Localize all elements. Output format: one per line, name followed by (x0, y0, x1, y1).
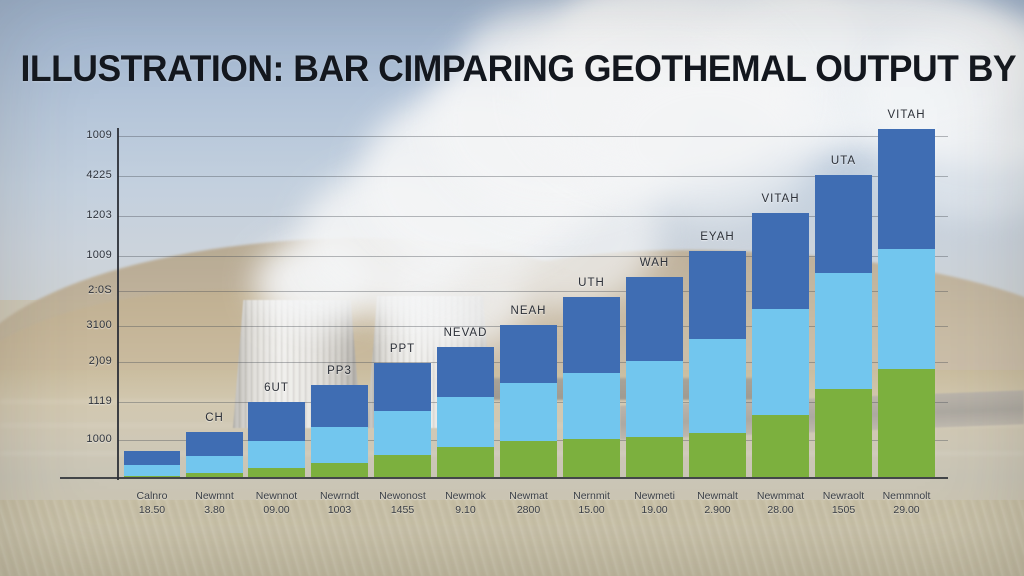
bar-segment-top (878, 129, 935, 249)
bar-9 (626, 277, 683, 477)
bar-segment-mid (186, 456, 243, 473)
bar-segment-top (437, 347, 494, 397)
bar-segment-mid (689, 339, 746, 433)
bar-segment-bot (563, 439, 620, 477)
bar-segment-top (689, 251, 746, 339)
bar-segment-mid (626, 361, 683, 437)
bar-3 (248, 402, 305, 477)
bar-segment-mid (500, 383, 557, 441)
bar-segment-top (374, 363, 431, 411)
x-axis-tick-labels: Calnro18.50Newmnt3.80Newnnot09.00Newrndt… (0, 489, 1024, 533)
bar-segment-bot (311, 463, 368, 477)
bar-segment-bot (626, 437, 683, 477)
bar-segment-mid (311, 427, 368, 463)
bar-13 (878, 129, 935, 477)
bar-segment-top (626, 277, 683, 361)
bar-segment-top (752, 213, 809, 309)
bar-segment-mid (563, 373, 620, 439)
bar-12 (815, 175, 872, 477)
bar-segment-bot (878, 369, 935, 477)
bar-6 (437, 347, 494, 477)
bar-4 (311, 385, 368, 477)
bar-segment-top (500, 325, 557, 383)
x-axis-tick-label: Nemmnolt29.00 (847, 489, 967, 517)
bar-11 (752, 213, 809, 477)
bar-segment-mid (752, 309, 809, 415)
bar-segment-bot (186, 473, 243, 477)
bar-segment-mid (124, 465, 180, 476)
bar-segment-top (815, 175, 872, 273)
bar-segment-bot (815, 389, 872, 477)
bar-segment-mid (437, 397, 494, 447)
bar-segment-bot (374, 455, 431, 477)
bar-5 (374, 363, 431, 477)
bar-8 (563, 297, 620, 477)
bar-segment-top (248, 402, 305, 441)
bar-segment-bot (752, 415, 809, 477)
bar-segment-bot (500, 441, 557, 477)
bar-value-label: VITAH (847, 109, 967, 121)
bar-segment-mid (374, 411, 431, 455)
bar-segment-mid (248, 441, 305, 468)
x-tick-value: 29.00 (847, 503, 967, 517)
bar-segment-bot (248, 468, 305, 477)
bar-7 (500, 325, 557, 477)
bar-segment-top (124, 451, 180, 465)
bar-10 (689, 251, 746, 477)
bar-segment-bot (437, 447, 494, 477)
bar-segment-top (563, 297, 620, 373)
bar-segment-mid (878, 249, 935, 369)
bar-segment-mid (815, 273, 872, 389)
bar-1 (124, 451, 180, 477)
bar-segment-top (311, 385, 368, 427)
bar-segment-bot (689, 433, 746, 477)
illustration-canvas: ILLUSTRATION: BAR CIMPARING GEOTHEMAL OU… (0, 0, 1024, 576)
bar-segment-top (186, 432, 243, 456)
x-tick-name: Nemmnolt (847, 489, 967, 503)
bar-2 (186, 432, 243, 477)
bar-segment-bot (124, 476, 180, 477)
